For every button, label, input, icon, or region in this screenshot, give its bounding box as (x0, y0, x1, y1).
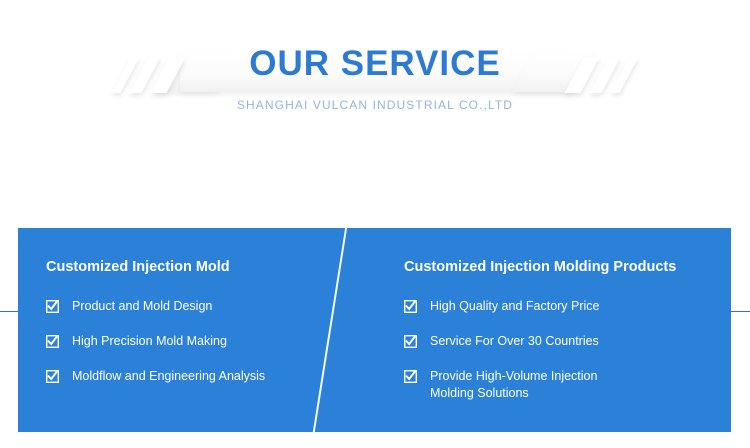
list-item: Provide High-Volume Injection Molding So… (404, 368, 724, 402)
checkbox-checked-icon (404, 335, 417, 348)
column-heading: Customized Injection Molding Products (404, 257, 676, 277)
list-item: Service For Over 30 Countries (404, 333, 724, 350)
oem-badge-section: OEM/ODE (0, 135, 750, 220)
checkbox-checked-icon (46, 300, 59, 313)
feature-list: High Quality and Factory Price Service F… (404, 298, 724, 420)
list-item-label: Product and Mold Design (72, 298, 212, 315)
checkbox-checked-icon (404, 300, 417, 313)
checkbox-checked-icon (46, 335, 59, 348)
list-item: High Precision Mold Making (46, 333, 366, 350)
company-name-subtitle: SHANGHAI VULCAN INDUSTRIAL CO.,LTD (0, 96, 750, 114)
list-item-label: Moldflow and Engineering Analysis (72, 368, 265, 385)
checkbox-checked-icon (46, 370, 59, 383)
checkbox-checked-icon (404, 370, 417, 383)
list-item-label: High Precision Mold Making (72, 333, 227, 350)
service-panel: Customized Injection Mold Product and Mo… (18, 228, 731, 432)
page-title: OUR SERVICE (0, 42, 750, 86)
list-item: Moldflow and Engineering Analysis (46, 368, 366, 385)
column-heading: Customized Injection Mold (46, 257, 230, 277)
service-column-molding-products: Customized Injection Molding Products Hi… (404, 228, 724, 432)
feature-list: Product and Mold Design High Precision M… (46, 298, 366, 403)
list-item-label: Service For Over 30 Countries (430, 333, 599, 350)
list-item-label: Provide High-Volume Injection Molding So… (430, 368, 597, 402)
list-item-label: High Quality and Factory Price (430, 298, 600, 315)
service-column-injection-mold: Customized Injection Mold Product and Mo… (46, 228, 366, 432)
header-banner: OUR SERVICE SHANGHAI VULCAN INDUSTRIAL C… (0, 0, 750, 130)
list-item: High Quality and Factory Price (404, 298, 724, 315)
list-item: Product and Mold Design (46, 298, 366, 315)
